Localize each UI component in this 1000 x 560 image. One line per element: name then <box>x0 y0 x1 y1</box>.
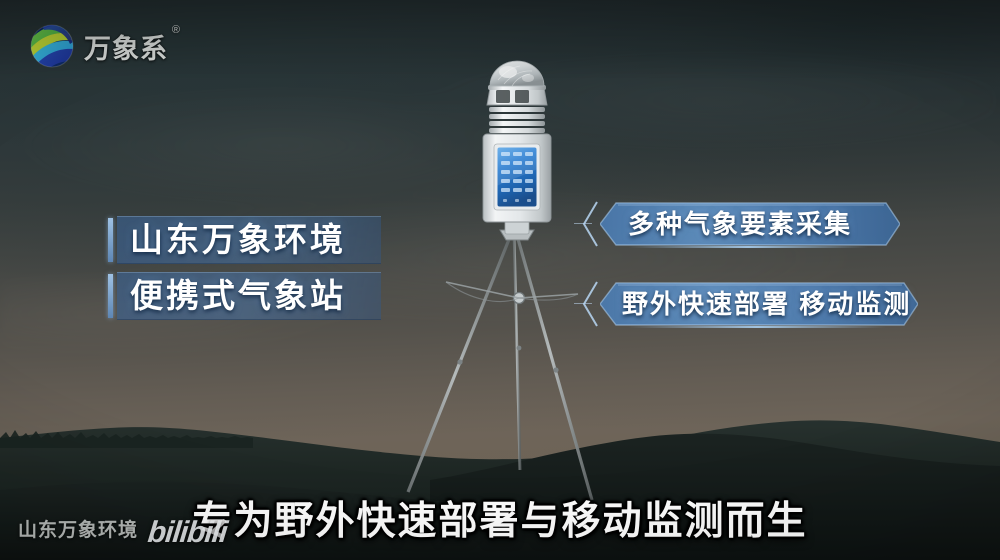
ribbed-housing <box>489 107 545 133</box>
callout-banner-1: 多种气象要素采集 <box>582 201 912 247</box>
logo-wordmark: 万象系 ® <box>84 27 168 66</box>
callout-banner-2-label: 野外快速部署 移动监测 <box>622 281 911 327</box>
title-banner-group: 山东万象环境 便携式气象站 <box>108 216 408 328</box>
trademark-symbol: ® <box>172 24 181 36</box>
tripod-legs <box>408 230 592 500</box>
weather-station-device <box>483 61 551 234</box>
brand-logo: 万象系 ® <box>28 22 168 70</box>
video-frame: 万象系 ® 山东万象环境 便携式气象站 <box>0 0 1000 560</box>
title-banner-1: 山东万象环境 <box>108 216 408 264</box>
globe-swirl-icon <box>28 22 76 70</box>
banner-underglow <box>628 326 886 328</box>
callout-banner-2: 野外快速部署 移动监测 <box>582 281 930 327</box>
title-banner-1-label: 山东万象环境 <box>130 216 346 264</box>
bilibili-watermark: bilibili <box>146 516 228 550</box>
banner-underglow <box>628 246 868 248</box>
chevron-bracket-icon <box>582 281 598 327</box>
callout-banner-1-label: 多种气象要素采集 <box>628 201 852 247</box>
title-banner-2: 便携式气象站 <box>108 272 408 320</box>
title-banner-2-label: 便携式气象站 <box>130 272 346 320</box>
accent-bar <box>108 218 113 262</box>
logo-text-value: 万象系 <box>84 34 168 64</box>
brand-watermark: 山东万象环境 <box>18 515 138 542</box>
accent-bar <box>108 274 113 318</box>
chevron-bracket-icon <box>582 201 598 247</box>
